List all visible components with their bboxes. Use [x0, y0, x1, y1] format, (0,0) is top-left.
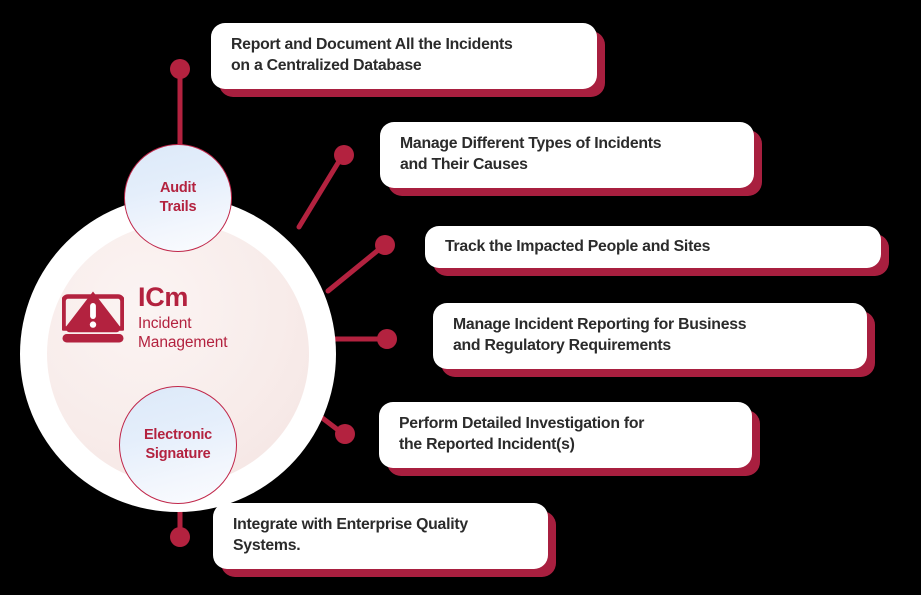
callout-card: Track the Impacted People and Sites [425, 226, 881, 268]
callout-text: Track the Impacted People and Sites [425, 237, 724, 258]
callout-perform-detailed-investigation[interactable]: Perform Detailed Investigation for the R… [379, 402, 752, 468]
bubble-audit-trails-label: Audit Trails [160, 179, 197, 217]
callout-card: Report and Document All the Incidents on… [211, 23, 597, 89]
connector-dot-0 [170, 59, 190, 79]
hub-title: ICm [138, 284, 227, 311]
bubble-audit-trails[interactable]: Audit Trails [124, 144, 232, 252]
callout-text: Integrate with Enterprise Quality System… [213, 515, 482, 557]
diagram-canvas: ICm Incident Management Audit Trails Ele… [0, 0, 921, 595]
connector-line-2 [328, 247, 382, 291]
bubble-electronic-signature-label: Electronic Signature [144, 426, 212, 464]
callout-card: Integrate with Enterprise Quality System… [213, 503, 548, 569]
laptop-warning-icon [62, 290, 124, 346]
callout-report-document-incidents[interactable]: Report and Document All the Incidents on… [211, 23, 597, 89]
callout-text: Manage Incident Reporting for Business a… [433, 315, 760, 357]
callout-manage-incident-reporting[interactable]: Manage Incident Reporting for Business a… [433, 303, 867, 369]
callout-text: Perform Detailed Investigation for the R… [379, 414, 658, 456]
hub-text: ICm Incident Management [138, 284, 227, 353]
hub-content: ICm Incident Management [62, 272, 312, 364]
bubble-electronic-signature[interactable]: Electronic Signature [119, 386, 237, 504]
callout-card: Manage Different Types of Incidents and … [380, 122, 754, 188]
callout-manage-incident-types[interactable]: Manage Different Types of Incidents and … [380, 122, 754, 188]
callout-text: Manage Different Types of Incidents and … [380, 134, 675, 176]
connector-dot-2 [375, 235, 395, 255]
callout-card: Manage Incident Reporting for Business a… [433, 303, 867, 369]
hub-subtitle: Incident Management [138, 315, 227, 353]
callout-track-impacted-people-sites[interactable]: Track the Impacted People and Sites [425, 226, 881, 268]
callout-integrate-enterprise-quality[interactable]: Integrate with Enterprise Quality System… [213, 503, 548, 569]
connector-dot-5 [170, 527, 190, 547]
connector-dot-4 [335, 424, 355, 444]
callout-text: Report and Document All the Incidents on… [211, 35, 527, 77]
connector-dot-3 [377, 329, 397, 349]
callout-card: Perform Detailed Investigation for the R… [379, 402, 752, 468]
connector-line-1 [299, 158, 341, 227]
connector-dot-1 [334, 145, 354, 165]
